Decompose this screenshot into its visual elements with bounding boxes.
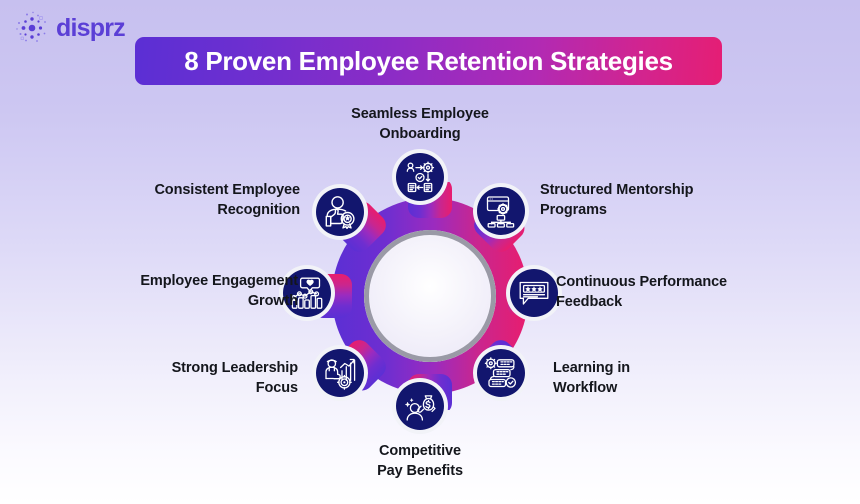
- title-banner: 8 Proven Employee Retention Strategies: [135, 37, 722, 85]
- strategy-icon-learning[interactable]: [473, 345, 529, 401]
- label-line-2: Focus: [110, 379, 298, 399]
- label-line-1: Continuous Performance: [556, 273, 786, 293]
- strategy-icon-pay[interactable]: [392, 378, 448, 434]
- learning-workflow-gear-icon: [484, 356, 518, 390]
- leadership-growth-target-icon: [323, 356, 357, 390]
- strategy-label-mentorship: Structured Mentorship Programs: [540, 181, 740, 220]
- label-line-2: Workflow: [553, 379, 733, 399]
- page-title: 8 Proven Employee Retention Strategies: [184, 46, 673, 77]
- brand-logo[interactable]: disprz: [14, 10, 125, 46]
- disprz-particle-mark-icon: [14, 10, 50, 46]
- pay-money-bag-icon: [403, 389, 437, 423]
- strategy-label-engagement: Employee Engagement Growth: [60, 272, 298, 311]
- label-line-1: Structured Mentorship: [540, 181, 740, 201]
- strategy-icon-onboarding[interactable]: [392, 149, 448, 205]
- label-line-1: Strong Leadership: [110, 359, 298, 379]
- label-line-2: Pay Benefits: [330, 462, 510, 482]
- strategy-label-feedback: Continuous Performance Feedback: [556, 273, 786, 312]
- recognition-thumbsup-award-icon: [323, 195, 357, 229]
- label-line-1: Seamless Employee: [330, 105, 510, 125]
- mentorship-orgchart-icon: [484, 194, 518, 228]
- label-line-1: Competitive: [330, 442, 510, 462]
- label-line-2: Programs: [540, 201, 740, 221]
- label-line-1: Employee Engagement: [60, 272, 298, 292]
- strategy-label-onboarding: Seamless Employee Onboarding: [330, 105, 510, 144]
- label-line-1: Learning in: [553, 359, 733, 379]
- label-line-2: Onboarding: [330, 125, 510, 145]
- label-line-1: Consistent Employee: [100, 181, 300, 201]
- feedback-star-rating-icon: [517, 276, 551, 310]
- strategy-icon-recognition[interactable]: [312, 184, 368, 240]
- strategy-icon-mentorship[interactable]: [473, 183, 529, 239]
- label-line-2: Recognition: [100, 201, 300, 221]
- strategy-label-pay: Competitive Pay Benefits: [330, 442, 510, 481]
- label-line-2: Growth: [60, 292, 298, 312]
- label-line-2: Feedback: [556, 293, 786, 313]
- onboarding-workflow-icon: [403, 160, 437, 194]
- strategy-label-leadership: Strong Leadership Focus: [110, 359, 298, 398]
- brand-wordmark: disprz: [56, 16, 125, 41]
- strategy-icon-feedback[interactable]: [506, 265, 562, 321]
- strategy-label-learning: Learning in Workflow: [553, 359, 733, 398]
- strategy-icon-leadership[interactable]: [312, 345, 368, 401]
- strategy-label-recognition: Consistent Employee Recognition: [100, 181, 300, 220]
